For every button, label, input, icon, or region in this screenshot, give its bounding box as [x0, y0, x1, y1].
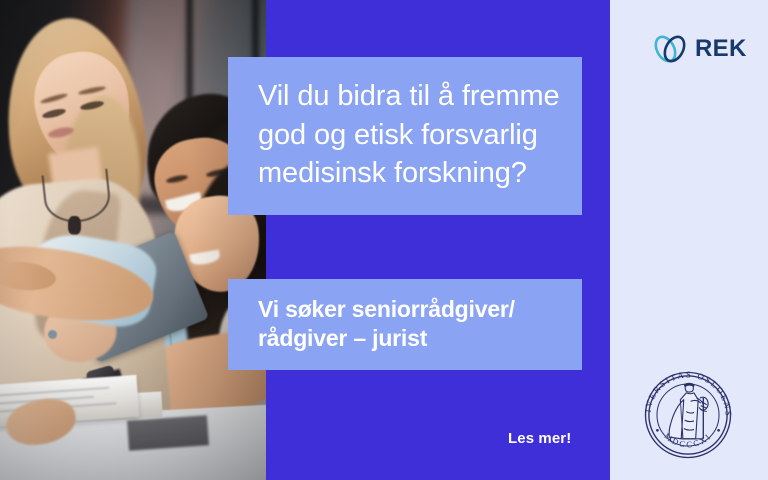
- job-title-text: Vi søker seniorrådgiver/ rådgiver – juri…: [258, 295, 576, 354]
- headline-box: Vil du bidra til å fremme god og etisk f…: [228, 57, 582, 215]
- team-photo: [0, 0, 266, 480]
- recruitment-banner: Vil du bidra til å fremme god og etisk f…: [0, 0, 768, 480]
- headline-text: Vil du bidra til å fremme god og etisk f…: [258, 77, 568, 193]
- rek-wordmark: REK: [695, 37, 747, 61]
- read-more-link[interactable]: Les mer!: [508, 430, 571, 447]
- photo-vignette: [0, 0, 266, 480]
- job-title-box: Vi søker seniorrådgiver/ rådgiver – juri…: [228, 279, 582, 370]
- headline-line: medisinsk forskning?: [258, 154, 568, 193]
- headline-line: god og etisk forsvarlig: [258, 116, 568, 155]
- uio-seal-icon: UNIVERSITAS OSLOENSIS MDCCCXI: [637, 364, 739, 466]
- job-title-line: Vi søker seniorrådgiver/: [258, 295, 576, 324]
- headline-line: Vil du bidra til å fremme: [258, 77, 568, 116]
- job-title-line: rådgiver – jurist: [258, 324, 576, 353]
- rek-logo[interactable]: REK: [650, 27, 736, 71]
- rek-loops-icon: [650, 29, 690, 69]
